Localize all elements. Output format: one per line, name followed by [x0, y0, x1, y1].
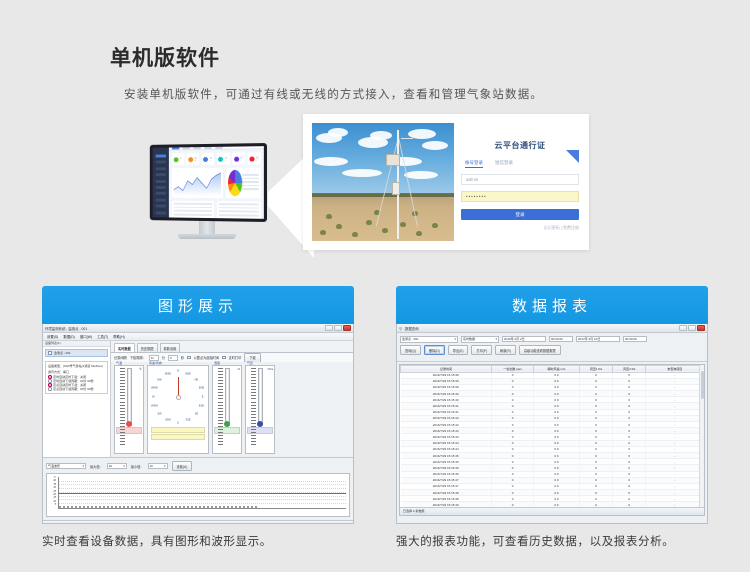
device-tree-node[interactable]: 监测点 - 001 [45, 349, 108, 357]
gridline [59, 484, 346, 485]
dashboard-nav-item[interactable] [156, 154, 167, 157]
download-period-label: 下载周期： [130, 355, 146, 360]
minimize-button[interactable] [325, 325, 333, 331]
shrub [400, 222, 406, 227]
thermometer-tube [127, 368, 132, 426]
report-table: 记录时间 一氧化碳 ppm 瞬时风速 m/s 风压1 Pa 风压2 Pa 未查询… [400, 365, 704, 516]
login-form: 云平台通行证 帐号登录 短信登录 admin •••••••• 登录 忘记密码 … [461, 123, 579, 241]
kpi-card [232, 153, 245, 165]
kpi-card [202, 153, 215, 165]
gauge-unit: % [237, 367, 240, 371]
page-subtitle: 安装单机版软件，可通过有线或无线的方式接入，查看和管理气象站数据。 [124, 86, 690, 102]
report-footer: 已选择 0 条数据 [400, 507, 704, 515]
tab-parameter-settings[interactable]: 参数设置 [160, 343, 181, 352]
shrub [382, 228, 388, 233]
dashboard-nav-item[interactable] [156, 161, 167, 164]
end-date-input[interactable]: 2017年 2月 10日 [576, 336, 620, 342]
dashboard-nav-item[interactable] [156, 211, 167, 214]
waveform-plot-area [58, 477, 346, 509]
y-axis-tick: 5 [49, 503, 56, 506]
humidity-tube [225, 368, 230, 426]
col-record-time[interactable]: 记录时间 [401, 365, 492, 372]
comm-mode-line: 通讯方式：串口 [48, 370, 105, 374]
username-field[interactable]: admin [461, 174, 579, 185]
graph-menubar: 设置(S) 数据(D) 窗口(W) 工具(T) 帮助(H) [43, 333, 353, 341]
tab-realtime-data[interactable]: 实时数据 [114, 343, 135, 352]
kpi-text [209, 157, 212, 161]
min-label: 最小值： [131, 464, 144, 469]
search-icon: ⚲ [399, 326, 402, 331]
col-unqueried[interactable]: 未查询项目 [646, 365, 704, 372]
compass-label-se: SE [195, 413, 198, 416]
dashboard-table-card [217, 201, 261, 220]
login-tabs: 帐号登录 短信登录 [461, 160, 579, 168]
monitor-stand-base [178, 234, 236, 239]
dashboard-nav-item[interactable] [156, 180, 167, 183]
corner-ribbon-icon [566, 150, 579, 163]
gauge-humidity: 湿度 % [212, 365, 242, 454]
scrollbar-thumb[interactable] [701, 371, 704, 399]
feature-caption-graph: 实时查看设备数据，具有图形和波形显示。 [42, 533, 354, 550]
kpi-text [194, 157, 197, 161]
radio-icon[interactable] [48, 387, 52, 391]
page-header: 单机版软件 安装单机版软件，可通过有线或无线的方式接入，查看和管理气象站数据。 [110, 42, 690, 102]
kpi-text [256, 156, 259, 160]
compass-label-n: N [177, 370, 179, 373]
table-scrollbar[interactable] [699, 365, 704, 515]
min-value-select[interactable]: 10 [148, 463, 168, 470]
compass-label-ssw: SSW [165, 419, 171, 422]
gauge-temperature: 气温 ℃ [114, 365, 144, 454]
waveform-trace [59, 493, 346, 494]
print-button[interactable]: 打印(P) [471, 345, 492, 355]
desktop-monitor [148, 144, 266, 239]
expand-icon[interactable] [48, 351, 52, 355]
gridline [59, 488, 346, 489]
password-field[interactable]: •••••••• [461, 191, 579, 202]
dashboard-body [169, 149, 264, 222]
feature-card-report: 数据报表 ⚲ 数据查询 监测点 - 001 实时数据 2016年 2月 2日 0… [396, 286, 708, 550]
report-table-body: 2016/7/29 15:15:3800.000-2016/7/29 15:15… [401, 372, 704, 516]
dashboard-topbar-item[interactable] [193, 147, 201, 149]
dashboard-main [169, 146, 264, 219]
dashboard-list-card [172, 201, 214, 219]
interval-seconds-input[interactable]: 0 [168, 355, 178, 361]
dashboard-line-chart [172, 168, 223, 198]
humidity-column [217, 368, 237, 426]
tab-account-login[interactable]: 帐号登录 [465, 160, 483, 168]
pressure-tube [258, 368, 263, 426]
dashboard-nav-item[interactable] [156, 167, 167, 170]
dashboard-topbar-item[interactable] [204, 147, 212, 149]
interval-minutes-input[interactable]: 11 [149, 355, 159, 361]
tab-sms-login[interactable]: 短信登录 [495, 160, 513, 168]
datatype-select[interactable]: 实时数据 [461, 336, 499, 343]
window-controls [679, 325, 705, 331]
wind-direction-readout [151, 434, 205, 440]
start-time-input[interactable]: 00:00:00 [549, 336, 573, 342]
login-button[interactable]: 登录 [461, 209, 579, 220]
gauge-unit: ℃ [139, 367, 142, 371]
kpi-text [180, 157, 183, 161]
dashboard-sidebar [153, 148, 169, 218]
device-node-label: 监测点 - 001 [54, 351, 71, 355]
shrub [432, 223, 438, 228]
dashboard-nav-item[interactable] [156, 186, 167, 189]
donut-legend [242, 174, 258, 192]
shrub [352, 232, 358, 237]
cloud [422, 141, 448, 150]
shrub [336, 224, 342, 229]
option-label: 定点自动下载周期：00分 00秒 [53, 387, 94, 391]
compass-label-wsw: WSW [151, 404, 158, 407]
option-fixed-period[interactable]: 定点自动下载周期：00分 00秒 [48, 387, 105, 391]
wind-direction-dial: N NNE NE ENE E ESE SE SSE S SSW SW WSW [150, 368, 206, 426]
export-button[interactable]: 导出(E) [448, 345, 469, 355]
compass-label-ene: ENE [199, 387, 204, 390]
compass-label-sw: SW [157, 413, 161, 416]
login-title: 云平台通行证 [461, 140, 579, 151]
kpi-card [248, 152, 261, 164]
feature-caption-report: 强大的报表功能，可查看历史数据，以及报表分析。 [396, 533, 708, 550]
monitor-screen [150, 143, 267, 222]
kpi-card [172, 153, 184, 165]
table-header-row: 记录时间 一氧化碳 ppm 瞬时风速 m/s 风压1 Pa 风压2 Pa 未查询… [401, 365, 704, 372]
gauge-pressure: 气压 hPa [245, 365, 275, 454]
cloud [342, 169, 382, 177]
shrub [416, 231, 422, 236]
dashboard-logo [172, 147, 180, 149]
sensor-box [386, 154, 400, 166]
thermometer-bulb [126, 421, 132, 427]
compass-label-nnw: NNW [165, 372, 171, 375]
cloud [370, 131, 392, 140]
app-preview-panel: 云平台通行证 帐号登录 短信登录 admin •••••••• 登录 忘记密码 … [303, 114, 589, 250]
hero-section: 云平台通行证 帐号登录 短信登录 admin •••••••• 登录 忘记密码 … [0, 108, 750, 258]
pressure-column [250, 368, 270, 426]
waveform-baseline [59, 505, 259, 508]
dashboard-nav-item[interactable] [156, 173, 167, 176]
dashboard-kpi-row [172, 152, 261, 165]
cloud [314, 157, 348, 166]
col-pressure-1[interactable]: 风压1 Pa [579, 365, 612, 372]
kpi-dot-icon [188, 157, 193, 162]
menu-window[interactable]: 窗口(W) [80, 334, 92, 339]
weather-station-photo [312, 123, 454, 241]
maximize-button[interactable] [334, 325, 342, 331]
kpi-dot-icon [249, 156, 254, 161]
kpi-dot-icon [173, 157, 178, 162]
col-co[interactable]: 一氧化碳 ppm [491, 365, 533, 372]
shrub [366, 220, 372, 225]
dashboard-nav-item[interactable] [156, 217, 167, 220]
end-time-input[interactable]: 00:00:00 [623, 336, 647, 342]
graph-tabs: 实时数据 历史数据 参数设置 [111, 341, 353, 352]
dashboard-topbar-item[interactable] [182, 147, 190, 149]
report-filter-bar: 监测点 - 001 实时数据 2016年 2月 2日 00:00:00 2017… [397, 333, 707, 362]
graph-window-body: 设备列表(1) 监测点 - 001 设备类型：[01]0号气象站(1通道 Mod… [43, 341, 353, 457]
gridline [59, 499, 346, 500]
cloud [328, 128, 348, 137]
advanced-report-button[interactable]: 高级功能查看数据报表 [519, 345, 561, 355]
line-chart-svg [174, 170, 221, 196]
max-value-select[interactable]: 40 [107, 463, 127, 470]
device-tree: 监测点 - 001 [43, 347, 110, 359]
kpi-dot-icon [218, 156, 223, 161]
dashboard-preview [153, 146, 264, 219]
device-type-line: 设备类型：[01]0号气象站(1通道 Modbus) [48, 364, 105, 368]
radiation-shield [392, 182, 400, 195]
waveform-channel-select[interactable]: 气温波形 [46, 463, 86, 470]
device-panel: 设备列表(1) 监测点 - 001 设备类型：[01]0号气象站(1通道 Mod… [43, 341, 111, 457]
waveform-y-axis: ℃ 40 35 30 25 20 15 10 5 [49, 476, 56, 510]
compass-label-ese: ESE [199, 404, 204, 407]
minute-unit-label: 分 [162, 355, 165, 360]
graph-statusbar: 登录用户：admin(系统管理员) 当前设备：监测点 - 001 [43, 520, 353, 524]
compass-label-sse: SSE [185, 419, 190, 422]
checkbox-start-on-hour[interactable] [187, 356, 191, 360]
col-wind-speed[interactable]: 瞬时风速 m/s [534, 365, 579, 372]
report-button-row: 查询(Q) 删除(D) 导出(E) 打印(P) 刷新(R) 高级功能查看数据报表 [400, 345, 704, 355]
maximize-button[interactable] [688, 325, 696, 331]
shrub [320, 230, 326, 235]
report-software-screenshot: ⚲ 数据查询 监测点 - 001 实时数据 2016年 2月 2日 00:00:… [396, 324, 708, 524]
dashboard-nav-item[interactable] [156, 205, 167, 208]
report-filter-row: 监测点 - 001 实时数据 2016年 2月 2日 00:00:00 2017… [400, 336, 704, 343]
refresh-button[interactable]: 刷新(R) [495, 345, 516, 355]
pressure-bulb [257, 421, 263, 427]
device-info-box: 设备类型：[01]0号气象站(1通道 Modbus) 通讯方式：串口 定时自动定… [45, 361, 108, 394]
monitor-stand-neck [199, 221, 215, 234]
login-links[interactable]: 忘记密码 | 免费注册 [461, 225, 579, 231]
kpi-card [187, 153, 200, 165]
window-controls [325, 325, 351, 331]
station-select[interactable]: 监测点 - 001 [400, 336, 458, 343]
compass-label-ne: NE [195, 378, 199, 381]
menu-help[interactable]: 帮助(H) [113, 334, 125, 339]
kpi-card [217, 153, 230, 165]
compass-label-nw: NW [157, 378, 161, 381]
cloud [404, 171, 438, 179]
gridline [59, 503, 346, 504]
report-table-container: 记录时间 一氧化碳 ppm 瞬时风速 m/s 风压1 Pa 风压2 Pa 未查询… [399, 364, 705, 516]
report-window-title: 数据查询 [405, 326, 677, 331]
feature-card-graph: 图形展示 环境监测系统 - 监测点 - 001 设置(S) 数据(D) 窗口(W… [42, 286, 354, 550]
kpi-text [240, 157, 243, 161]
status-current-device: 当前设备：监测点 - 001 [170, 523, 211, 525]
graph-software-screenshot: 环境监测系统 - 监测点 - 001 设置(S) 数据(D) 窗口(W) 工具(… [42, 324, 354, 524]
humidity-bulb [224, 421, 230, 427]
radio-icon[interactable] [48, 375, 52, 379]
record-interval-label: 记录间隔 [114, 355, 127, 360]
start-date-input[interactable]: 2016年 2月 2日 [502, 336, 546, 342]
dashboard-bottom-row [172, 201, 261, 220]
compass-label-s: S [177, 421, 179, 424]
dial-hub [176, 395, 181, 400]
menu-settings[interactable]: 设置(S) [47, 334, 58, 339]
shrub [326, 214, 332, 219]
checkbox-timed-print[interactable] [222, 356, 226, 360]
checkbox-timed-print-label: 定时打印 [229, 355, 242, 360]
wind-vane-icon [401, 138, 413, 139]
dashboard-topbar-item[interactable] [215, 147, 223, 149]
second-unit-label: 秒 [181, 355, 184, 360]
close-button[interactable] [697, 325, 705, 331]
graph-toolbar: 记录间隔 下载周期： 11 分 0 秒 以整点为起始时间 定时打印 下载 [111, 352, 353, 362]
waveform-settings-button[interactable]: 设置(U) [172, 461, 193, 471]
compass-label-e: E [202, 396, 204, 399]
minimize-button[interactable] [679, 325, 687, 331]
gridline [59, 481, 346, 482]
wind-speed-readout [151, 427, 205, 433]
col-pressure-2[interactable]: 风压2 Pa [613, 365, 646, 372]
graph-window-titlebar: 环境监测系统 - 监测点 - 001 [43, 324, 353, 333]
kpi-text [225, 157, 228, 161]
compass-label-wnw: WNW [151, 387, 158, 390]
checkbox-start-on-hour-label: 以整点为起始时间 [194, 355, 220, 360]
gridline [59, 496, 346, 497]
close-button[interactable] [343, 325, 351, 331]
gauge-label: 湿度 [214, 361, 220, 365]
waveform-section: 气温波形 最大值： 40 最小值： 10 设置(U) ℃ 40 35 30 25… [43, 457, 353, 520]
compass-label-nne: NNE [185, 372, 190, 375]
gauge-label: 风速/风向 [149, 361, 162, 365]
gauge-panel: 气温 ℃ [111, 362, 353, 457]
menu-tools[interactable]: 工具(T) [97, 334, 108, 339]
delete-button[interactable]: 删除(D) [424, 345, 445, 355]
gauge-wind: 风速/风向 N NNE NE ENE E ESE SE SSE S SSW [147, 365, 209, 454]
page-title: 单机版软件 [110, 42, 690, 72]
thermometer-column [119, 368, 139, 426]
graph-right-pane: 实时数据 历史数据 参数设置 记录间隔 下载周期： 11 分 0 秒 以整点为起… [111, 341, 353, 457]
waveform-chart: ℃ 40 35 30 25 20 15 10 5 [46, 473, 350, 517]
status-login-user: 登录用户：admin(系统管理员) [121, 523, 170, 525]
report-window-titlebar: ⚲ 数据查询 [397, 324, 707, 333]
tab-history-data[interactable]: 历史数据 [137, 343, 158, 352]
graph-window-title: 环境监测系统 - 监测点 - 001 [45, 326, 323, 331]
donut-graphic [228, 170, 242, 196]
feature-banner-graph: 图形展示 [42, 286, 354, 324]
dashboard-chart-row [172, 168, 261, 199]
max-label: 最大值： [90, 464, 103, 469]
waveform-toolbar: 气温波形 最大值： 40 最小值： 10 设置(U) [46, 461, 350, 471]
dashboard-donut-chart [226, 168, 261, 199]
kpi-dot-icon [234, 156, 239, 161]
radio-icon[interactable] [48, 379, 52, 383]
dashboard-nav-item[interactable] [156, 192, 167, 195]
gauge-label: 气压 [247, 361, 253, 365]
menu-data[interactable]: 数据(D) [63, 334, 75, 339]
dashboard-nav-item[interactable] [156, 198, 167, 201]
query-button[interactable]: 查询(Q) [400, 345, 421, 355]
gauge-label: 气温 [116, 361, 122, 365]
compass-label-w: W [152, 396, 154, 399]
feature-banner-report: 数据报表 [396, 286, 708, 324]
radio-icon[interactable] [48, 383, 52, 387]
kpi-dot-icon [203, 156, 208, 161]
